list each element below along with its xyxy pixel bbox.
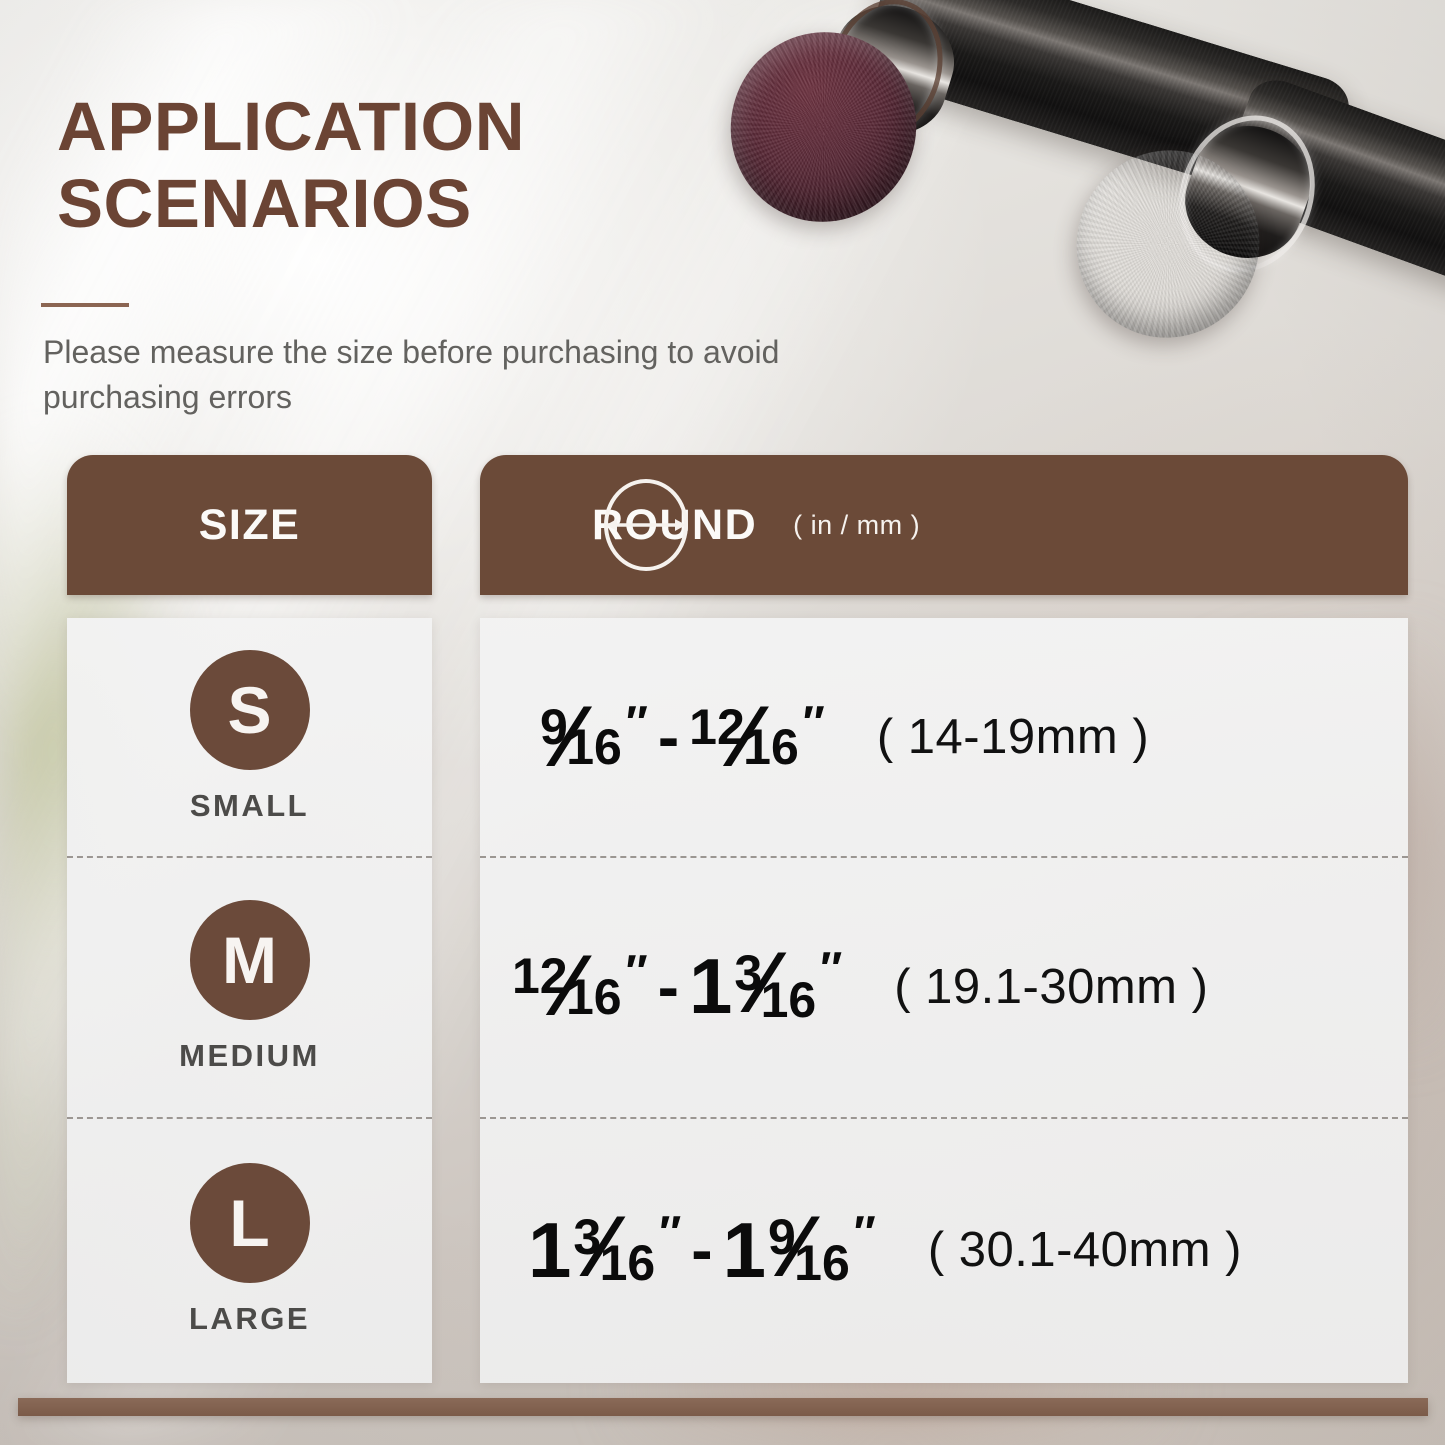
inch-mark: ″ [803, 702, 825, 743]
inch-mark: ″ [626, 951, 648, 992]
range-dash: - [658, 950, 679, 1024]
fraction-from-s: 9 ⁄ 16 ″ [540, 702, 648, 773]
size-name-m: MEDIUM [179, 1038, 320, 1074]
mm-range-l: ( 30.1-40mm ) [928, 1222, 1242, 1278]
header-size-label: SIZE [199, 501, 301, 550]
range-dash: - [691, 1213, 712, 1287]
size-name-s: SMALL [190, 788, 309, 824]
range-dash: - [658, 700, 679, 774]
table-row: M MEDIUM [67, 856, 432, 1117]
inch-range-l: 1 3 ⁄ 16 ″ - 1 9 ⁄ 16 ″ [528, 1212, 876, 1288]
inch-mark: ″ [820, 948, 842, 989]
fraction-from-m: 12 ⁄ 16 ″ [512, 951, 648, 1022]
fraction-from-l: 1 3 ⁄ 16 ″ [528, 1212, 681, 1288]
inch-range-s: 9 ⁄ 16 ″ - 12 ⁄ 16 ″ [540, 700, 825, 774]
table-row-dimensions-l: 1 3 ⁄ 16 ″ - 1 9 ⁄ 16 ″ ( 30.1-40mm ) [480, 1117, 1408, 1383]
bottom-accent-bar [18, 1398, 1428, 1416]
table-header-size: SIZE [67, 455, 432, 595]
size-badge-m: M [190, 900, 310, 1020]
inch-mark: ″ [659, 1212, 681, 1253]
mm-range-s: ( 14-19mm ) [877, 709, 1149, 765]
inch-mark: ″ [626, 702, 648, 743]
circle-diameter-icon [598, 477, 694, 573]
fraction-to-s: 12 ⁄ 16 ″ [689, 702, 825, 773]
table-row-dimensions-m: 12 ⁄ 16 ″ - 1 3 ⁄ 16 ″ ( 19.1-30mm ) [480, 856, 1408, 1117]
table-row-dimensions-s: 9 ⁄ 16 ″ - 12 ⁄ 16 ″ ( 14-19mm ) [480, 618, 1408, 856]
size-chart-table: SIZE ROUND ( in / mm ) S SMALL 9 [0, 0, 1445, 1445]
fraction-to-l: 1 9 ⁄ 16 ″ [723, 1212, 876, 1288]
size-name-l: LARGE [189, 1301, 310, 1337]
size-badge-l: L [190, 1163, 310, 1283]
inch-mark: ″ [854, 1212, 876, 1253]
header-unit-label: ( in / mm ) [793, 510, 920, 541]
inch-range-m: 12 ⁄ 16 ″ - 1 3 ⁄ 16 ″ [512, 948, 842, 1024]
infographic-page: APPLICATION SCENARIOS Please measure the… [0, 0, 1445, 1445]
size-badge-s: S [190, 650, 310, 770]
table-row: S SMALL [67, 618, 432, 856]
fraction-to-m: 1 3 ⁄ 16 ″ [689, 948, 842, 1024]
table-row: L LARGE [67, 1117, 432, 1383]
mm-range-m: ( 19.1-30mm ) [894, 959, 1208, 1015]
